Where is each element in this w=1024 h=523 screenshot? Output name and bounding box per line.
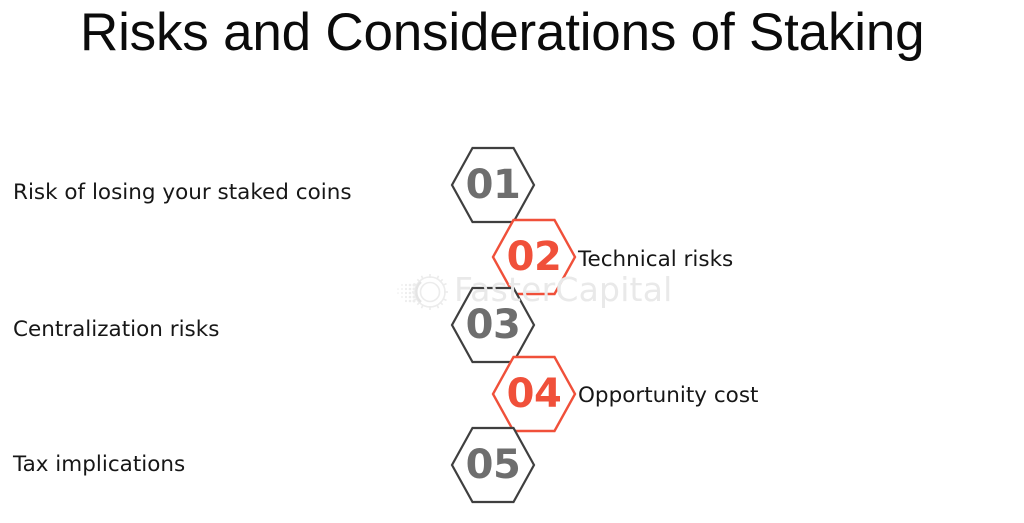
hexagon-shape-05 [452, 428, 534, 502]
item-label-03: Centralization risks [13, 319, 219, 341]
item-label-05: Tax implications [13, 454, 185, 476]
item-label-04: Opportunity cost [578, 385, 758, 407]
hexagon-number-02: 02 [507, 234, 562, 280]
page-title: Risks and Considerations of Staking [80, 4, 924, 61]
item-label-01: Risk of losing your staked coins [13, 182, 352, 204]
item-label-02: Technical risks [578, 249, 733, 271]
hexagon-shape-04 [493, 357, 575, 431]
hexagon-shape-02 [493, 220, 575, 294]
slide-canvas: Risks and Considerations of Staking 01 0… [0, 0, 1024, 523]
hexagon-number-05: 05 [466, 442, 521, 488]
gear-icon [392, 268, 454, 316]
hexagon-item-03[interactable]: 03 [452, 288, 534, 362]
hexagon-number-01: 01 [466, 162, 521, 208]
hexagon-number-04: 04 [507, 371, 562, 417]
hexagon-shape-01 [452, 148, 534, 222]
watermark-text: FasterCapital [454, 270, 673, 310]
hexagon-item-01[interactable]: 01 [452, 148, 534, 222]
hexagon-item-05[interactable]: 05 [452, 428, 534, 502]
hexagon-number-03: 03 [466, 302, 521, 348]
hexagon-chain: 01 02 03 04 05 [0, 0, 1024, 523]
hexagon-item-02[interactable]: 02 [493, 220, 575, 294]
hexagon-item-04[interactable]: 04 [493, 357, 575, 431]
watermark: FasterCapital [392, 268, 642, 316]
hexagon-shape-03 [452, 288, 534, 362]
